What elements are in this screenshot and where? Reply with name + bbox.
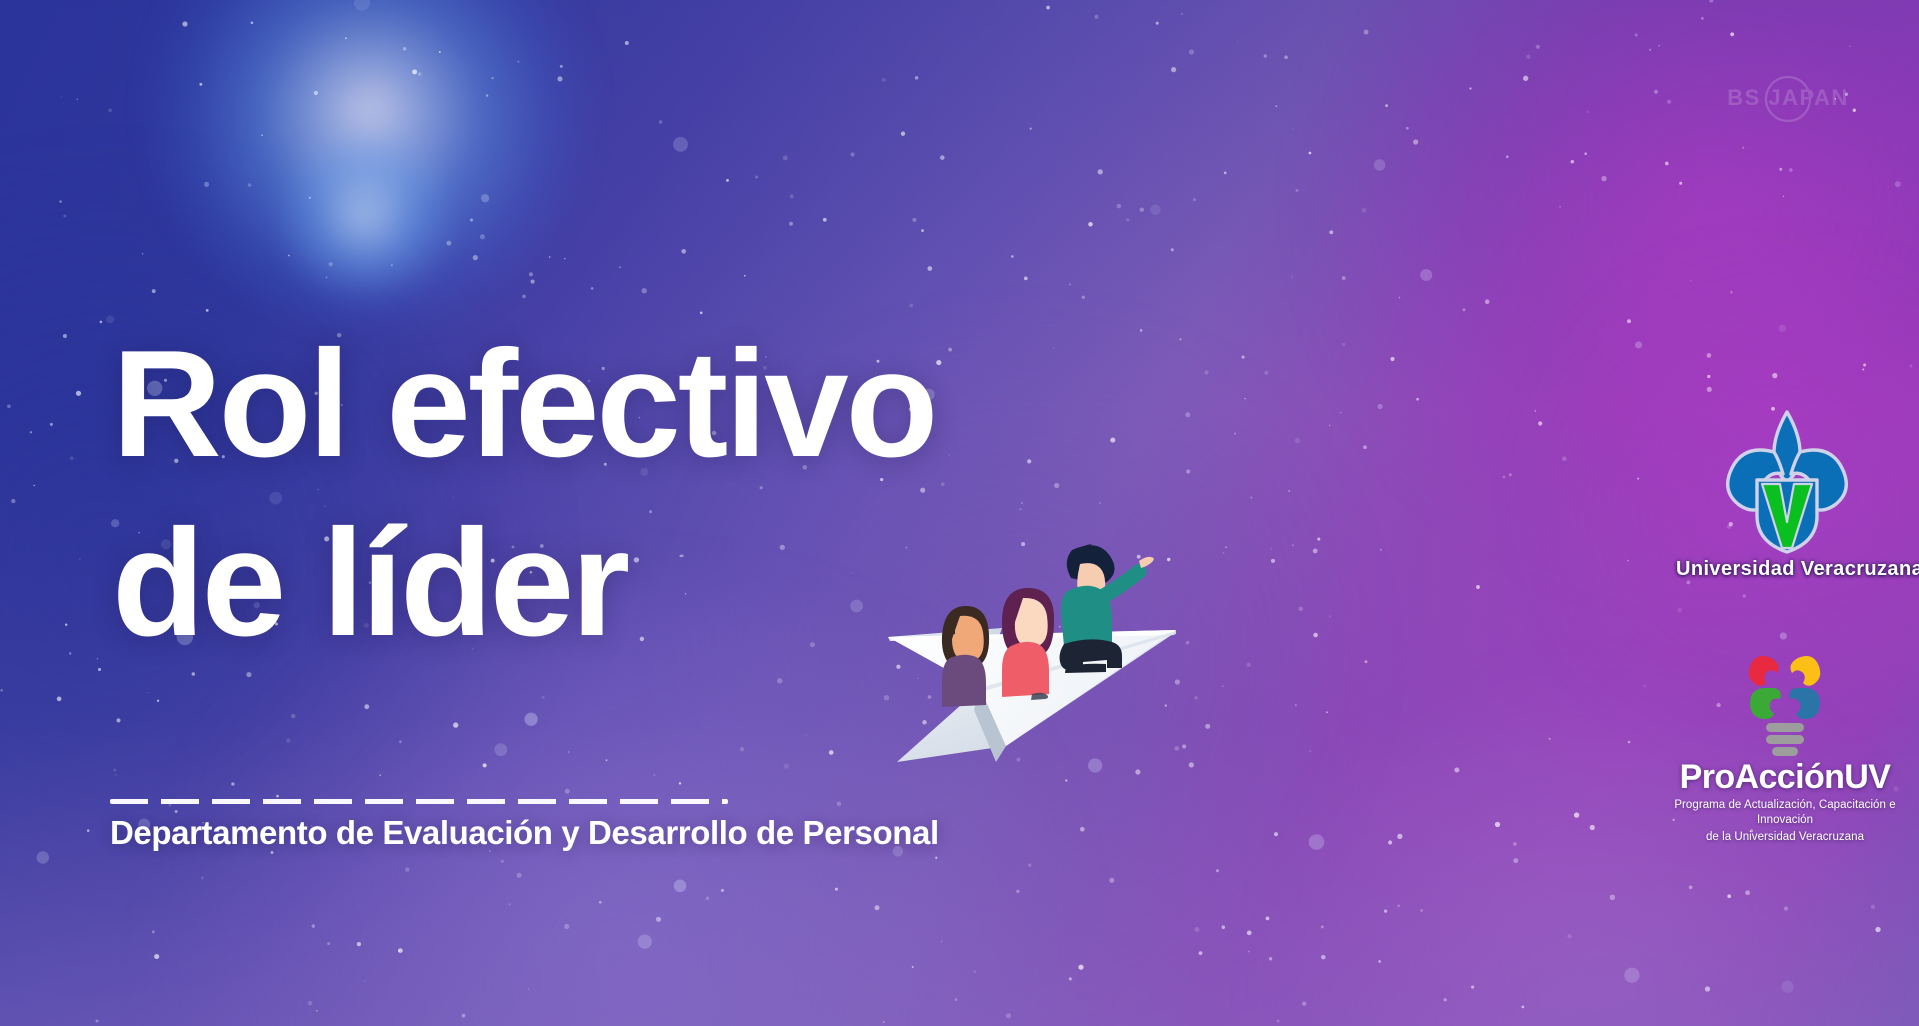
bulb-piece-red bbox=[1749, 656, 1779, 686]
passenger-middle-shirt bbox=[1002, 642, 1049, 697]
passenger-back-shirt bbox=[942, 655, 986, 707]
universidad-veracruzana-logo: Universidad Veracruzana bbox=[1676, 408, 1898, 581]
paper-plane-svg bbox=[884, 540, 1194, 770]
fleur-de-lis-shield-v-icon bbox=[1724, 408, 1850, 556]
bulb-base-ring-1 bbox=[1766, 723, 1804, 732]
lightbulb-puzzle-icon bbox=[1739, 648, 1831, 760]
proaccion-uv-subtitle-line-1: Programa de Actualización, Capacitación … bbox=[1660, 798, 1910, 829]
caption-text: Departamento de Evaluación y Desarrollo … bbox=[110, 814, 939, 852]
passenger-back bbox=[942, 606, 989, 707]
bulb-piece-blue bbox=[1789, 688, 1820, 719]
bulb-base-ring-2 bbox=[1766, 735, 1804, 744]
title-line-1: Rol efectivo bbox=[112, 330, 1172, 479]
universidad-veracruzana-label: Universidad Veracruzana bbox=[1676, 558, 1898, 581]
watermark-text: BS JAPAN bbox=[1727, 85, 1849, 110]
proaccion-uv-subtitle-line-2: de la Universidad Veracruzana bbox=[1660, 830, 1910, 845]
proaccion-uv-label: ProAcciónUV bbox=[1660, 758, 1910, 797]
bulb-piece-yellow bbox=[1790, 656, 1820, 686]
bulb-piece-green bbox=[1750, 688, 1781, 719]
bs-japan-watermark: BS JAPAN bbox=[1693, 73, 1883, 125]
slide-canvas: BS JAPAN Rol efectivo de líder bbox=[0, 0, 1919, 1026]
leader-hand bbox=[1139, 557, 1154, 568]
proaccion-uv-logo: ProAcciónUV Programa de Actualización, C… bbox=[1660, 648, 1910, 845]
paper-plane-illustration bbox=[884, 540, 1194, 770]
passenger-middle bbox=[1002, 588, 1054, 697]
caption-divider bbox=[110, 799, 728, 804]
bulb-base-ring-3 bbox=[1772, 747, 1798, 756]
